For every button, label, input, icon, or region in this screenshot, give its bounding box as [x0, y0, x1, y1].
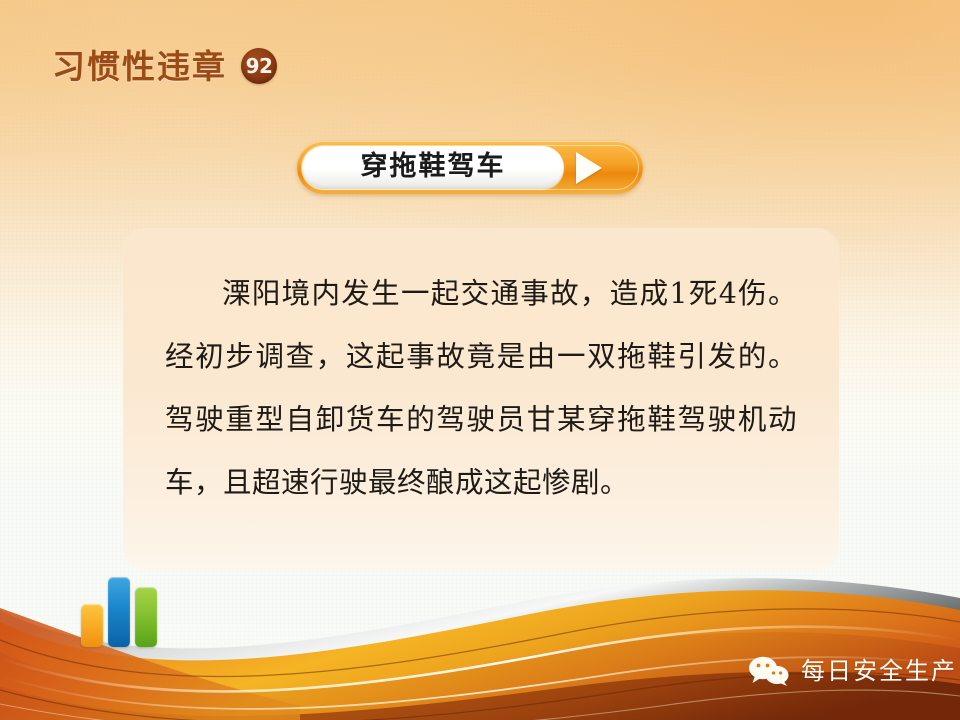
slide-canvas: 习惯性违章 92 穿拖鞋驾车 溧阳境内发生一起交通事故，造成1死4伤。经初步调查…	[0, 0, 960, 720]
banner-label-text: 穿拖鞋驾车	[361, 153, 506, 182]
blue-bar	[108, 577, 130, 647]
watermark-text: 每日安全生产	[801, 659, 957, 683]
episode-number-badge: 92	[241, 48, 277, 84]
wechat-icon	[748, 656, 790, 686]
green-bar	[135, 587, 157, 647]
topic-banner: 穿拖鞋驾车	[297, 141, 643, 194]
orange-bar	[81, 604, 103, 647]
content-paragraph: 溧阳境内发生一起交通事故，造成1死4伤。经初步调查，这起事故竟是由一双拖鞋引发的…	[165, 262, 797, 514]
page-title: 习惯性违章	[52, 50, 227, 83]
bar-chart-icon	[81, 575, 159, 647]
play-triangle-icon	[576, 152, 602, 184]
banner-label-plate: 穿拖鞋驾车	[302, 146, 564, 189]
wechat-watermark: 每日安全生产	[748, 656, 957, 686]
page-header: 习惯性违章 92	[52, 48, 277, 84]
